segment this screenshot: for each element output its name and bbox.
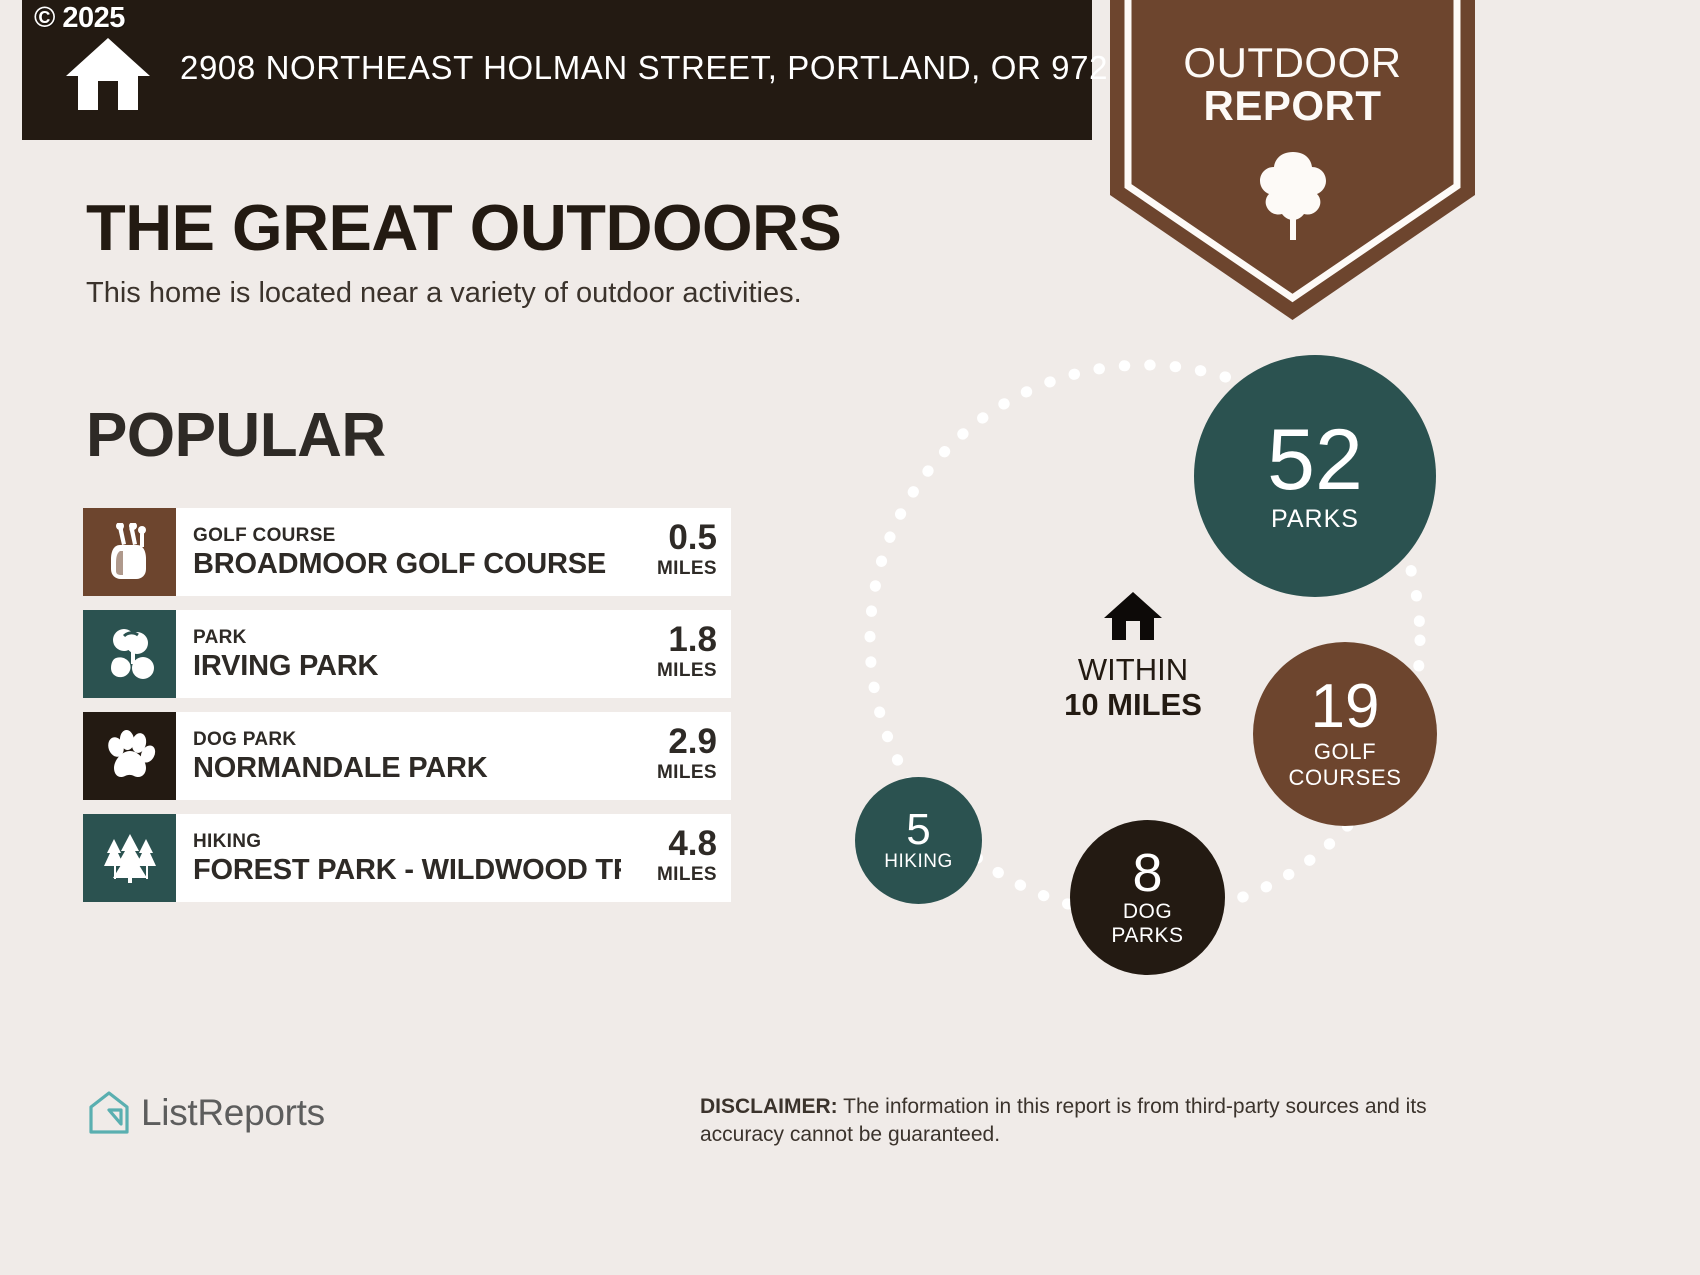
list-item[interactable]: GOLF COURSE BROADMOOR GOLF COURSE 0.5 MI… [83,508,731,596]
pine-trees-icon [83,814,176,902]
bubble-parks: 52 PARKS [1194,355,1436,597]
page-subtitle: This home is located near a variety of o… [86,277,802,310]
bubble-dog-parks-label-line1: DOG [1123,901,1172,923]
bubble-dog-parks-value: 8 [1132,848,1162,899]
list-item-distance: 2.9 MILES [621,712,731,800]
badge-title-line2: REPORT [1110,85,1475,128]
list-item-text: DOG PARK NORMANDALE PARK [176,712,621,800]
paw-print-icon [83,712,176,800]
page-title: THE GREAT OUTDOORS [86,190,841,265]
outdoor-report-badge: OUTDOOR REPORT [1110,0,1475,320]
listreports-logo[interactable]: ListReports [88,1090,325,1136]
golf-bag-icon [83,508,176,596]
list-item-text: GOLF COURSE BROADMOOR GOLF COURSE [176,508,621,596]
list-item-distance-unit: MILES [657,657,717,686]
list-item-distance-value: 4.8 [668,826,717,861]
popular-list: GOLF COURSE BROADMOOR GOLF COURSE 0.5 MI… [83,508,731,916]
list-item-distance: 4.8 MILES [621,814,731,902]
popular-heading: POPULAR [86,400,386,471]
bubble-golf-courses-label-line2: COURSES [1289,766,1402,789]
disclaimer: DISCLAIMER: The information in this repo… [700,1093,1500,1150]
outdoor-report-page: © 2025 2908 NORTHEAST HOLMAN STREET, POR… [0,0,1700,1275]
bubble-dog-parks: 8 DOG PARKS [1070,820,1225,975]
park-trees-icon [83,610,176,698]
list-item-name: BROADMOOR GOLF COURSE [193,548,621,580]
list-item-distance-unit: MILES [657,555,717,584]
list-item-name: FOREST PARK - WILDWOOD TRAIL [193,854,621,886]
list-item-category: PARK [193,626,621,650]
list-item-distance: 1.8 MILES [621,610,731,698]
chart-center-line2: 10 MILES [1018,688,1248,723]
bubble-hiking-label: HIKING [884,852,952,872]
bubble-golf-courses-value: 19 [1311,678,1380,737]
list-item[interactable]: HIKING FOREST PARK - WILDWOOD TRAIL 4.8 … [83,814,731,902]
within-10-miles-chart: 52 PARKS 19 GOLF COURSES 8 DOG PARKS 5 H… [820,340,1500,1020]
list-item-distance-value: 0.5 [668,520,717,555]
list-item-distance-value: 2.9 [668,724,717,759]
tree-icon [1254,150,1332,242]
list-item-distance-unit: MILES [657,861,717,890]
list-item-name: IRVING PARK [193,650,621,682]
home-icon [1102,590,1164,642]
home-icon [62,35,154,113]
list-item-distance-unit: MILES [657,759,717,788]
list-item-text: HIKING FOREST PARK - WILDWOOD TRAIL [176,814,621,902]
disclaimer-label: DISCLAIMER: [700,1095,838,1118]
badge-title-line1: OUTDOOR [1110,42,1475,85]
list-item-distance-value: 1.8 [668,622,717,657]
chart-center-line1: WITHIN [1018,653,1248,688]
listreports-house-icon [88,1090,130,1136]
list-item-category: GOLF COURSE [193,524,621,548]
bubble-golf-courses-label-line1: GOLF [1314,740,1376,763]
badge-title: OUTDOOR REPORT [1110,42,1475,128]
copyright-label: © 2025 [34,2,125,35]
list-item-name: NORMANDALE PARK [193,752,621,784]
list-item[interactable]: DOG PARK NORMANDALE PARK 2.9 MILES [83,712,731,800]
list-item[interactable]: PARK IRVING PARK 1.8 MILES [83,610,731,698]
listreports-logo-text: ListReports [141,1092,325,1134]
property-address: 2908 NORTHEAST HOLMAN STREET, PORTLAND, … [180,49,1144,87]
bubble-dog-parks-label-line2: PARKS [1111,925,1183,947]
bubble-hiking-value: 5 [906,809,930,851]
list-item-text: PARK IRVING PARK [176,610,621,698]
list-item-distance: 0.5 MILES [621,508,731,596]
list-item-category: HIKING [193,830,621,854]
list-item-category: DOG PARK [193,728,621,752]
chart-center-label: WITHIN 10 MILES [1018,590,1248,722]
bubble-golf-courses: 19 GOLF COURSES [1253,642,1437,826]
bubble-hiking: 5 HIKING [855,777,982,904]
bubble-parks-value: 52 [1267,420,1363,502]
bubble-parks-label: PARKS [1271,506,1359,532]
